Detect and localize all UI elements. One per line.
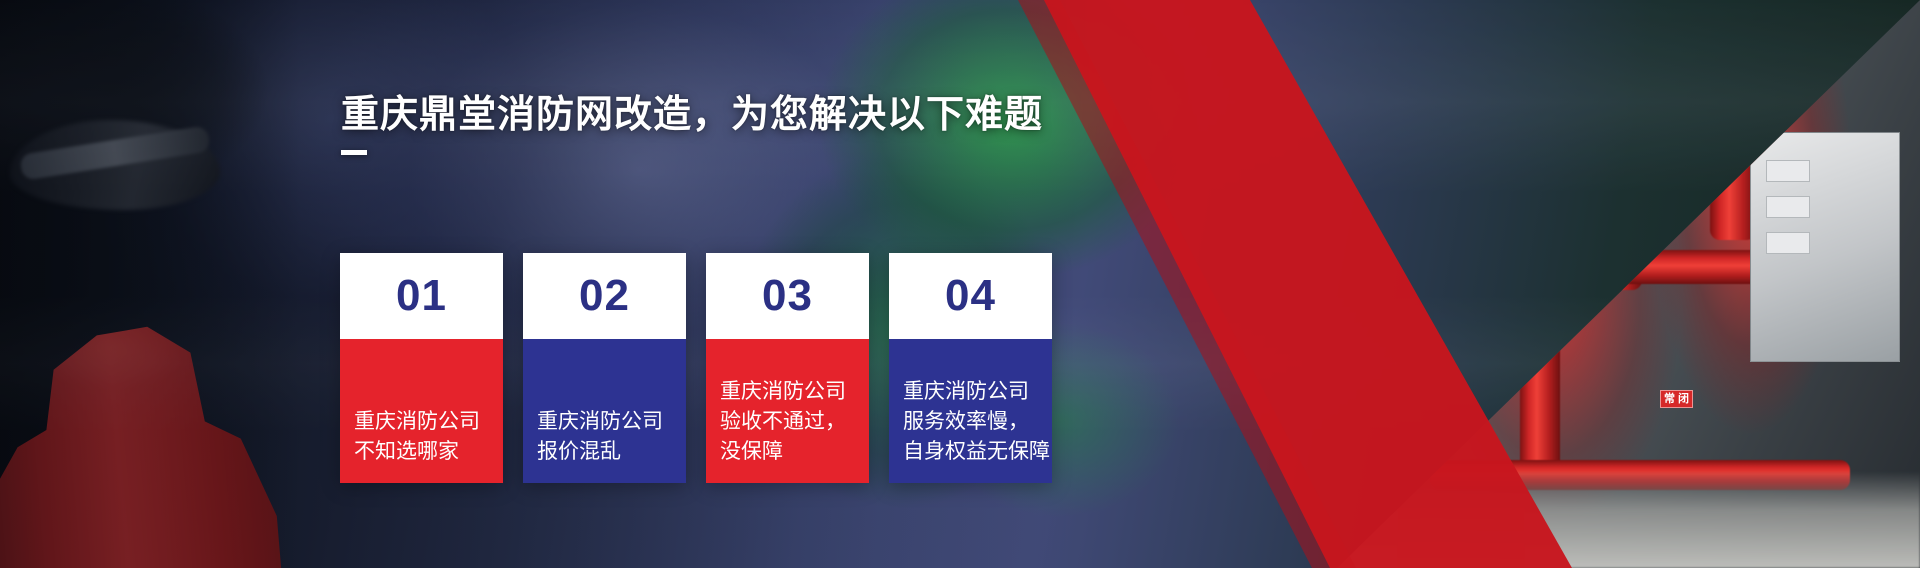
card-number-04: 04 (889, 253, 1052, 339)
card-text-04: 重庆消防公司 服务效率慢， 自身权益无保障 (889, 339, 1052, 483)
card-number-02: 02 (523, 253, 686, 339)
problem-card-list: 01 重庆消防公司 不知选哪家 02 重庆消防公司 报价混乱 03 重庆消防公司… (340, 253, 1052, 483)
banner-content: 重庆鼎堂消防网改造，为您解决以下难题 01 重庆消防公司 不知选哪家 02 重庆… (0, 0, 1920, 568)
page-title: 重庆鼎堂消防网改造，为您解决以下难题 (341, 92, 1043, 138)
title-underline (341, 150, 367, 155)
problem-card-04[interactable]: 04 重庆消防公司 服务效率慢， 自身权益无保障 (889, 253, 1052, 483)
problem-card-01[interactable]: 01 重庆消防公司 不知选哪家 (340, 253, 503, 483)
problem-card-02[interactable]: 02 重庆消防公司 报价混乱 (523, 253, 686, 483)
card-text-01: 重庆消防公司 不知选哪家 (340, 339, 503, 483)
card-text-02: 重庆消防公司 报价混乱 (523, 339, 686, 483)
card-text-03: 重庆消防公司 验收不通过， 没保障 (706, 339, 869, 483)
card-number-03: 03 (706, 253, 869, 339)
banner-stage: 常 开 常 闭 常 闭 重庆鼎堂消防网改造，为您解决以下难题 01 重庆消防公司… (0, 0, 1920, 568)
problem-card-03[interactable]: 03 重庆消防公司 验收不通过， 没保障 (706, 253, 869, 483)
card-number-01: 01 (340, 253, 503, 339)
